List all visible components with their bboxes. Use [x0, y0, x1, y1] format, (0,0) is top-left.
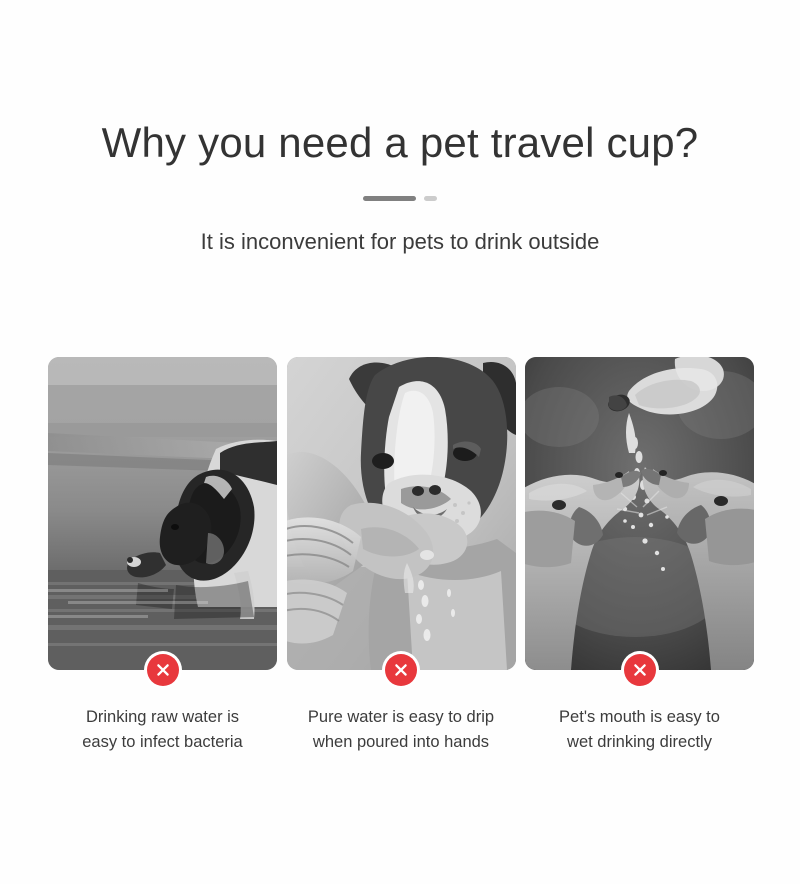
page-subtitle: It is inconvenient for pets to drink out… — [0, 227, 800, 257]
two-retrievers-drinking-poured-water-image — [525, 357, 754, 670]
spaniel-dog-drinking-from-lake-image — [48, 357, 277, 670]
close-x-icon-badge-2 — [382, 651, 420, 689]
close-x-icon — [147, 654, 179, 686]
caption-line: wet drinking directly — [525, 730, 754, 755]
close-x-icon — [385, 654, 417, 686]
close-x-icon-badge-3 — [621, 651, 659, 689]
page-title: Why you need a pet travel cup? — [0, 117, 800, 169]
card-caption-3: Pet's mouth is easy to wet drinking dire… — [525, 705, 754, 755]
caption-line: Pet's mouth is easy to — [525, 705, 754, 730]
caption-line: Pure water is easy to drip — [287, 705, 516, 730]
title-divider — [363, 195, 437, 201]
close-x-icon — [624, 654, 656, 686]
divider-bar-long — [363, 196, 416, 201]
caption-line: easy to infect bacteria — [48, 730, 277, 755]
caption-line: Drinking raw water is — [48, 705, 277, 730]
card-caption-1: Drinking raw water is easy to infect bac… — [48, 705, 277, 755]
problem-card-2: Pure water is easy to drip when poured i… — [287, 357, 516, 755]
problem-card-1: Drinking raw water is easy to infect bac… — [48, 357, 277, 755]
divider-bar-short — [424, 196, 437, 201]
page-header: Why you need a pet travel cup? It is inc… — [0, 0, 800, 257]
problem-cards: Drinking raw water is easy to infect bac… — [48, 357, 754, 755]
french-bulldog-drinking-from-hands-image — [287, 357, 516, 670]
caption-line: when poured into hands — [287, 730, 516, 755]
close-x-icon-badge-1 — [144, 651, 182, 689]
promo-page: Why you need a pet travel cup? It is inc… — [0, 0, 800, 884]
problem-card-3: Pet's mouth is easy to wet drinking dire… — [525, 357, 754, 755]
card-caption-2: Pure water is easy to drip when poured i… — [287, 705, 516, 755]
